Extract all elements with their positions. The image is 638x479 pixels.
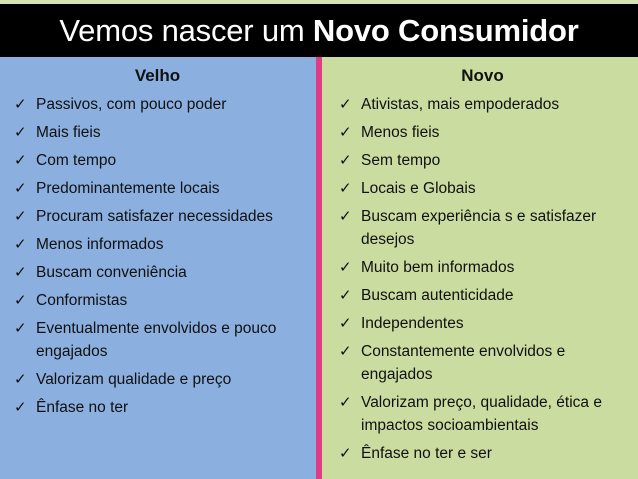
- list-item: ✓Muito bem informados: [335, 256, 630, 279]
- comparison-columns: Velho ✓Passivos, com pouco poder ✓Mais f…: [0, 57, 638, 479]
- slide: Vemos nascer um Novo Consumidor Velho ✓P…: [0, 0, 638, 479]
- check-icon: ✓: [14, 233, 27, 256]
- list-item: ✓Eventualmente envolvidos e pouco engaja…: [10, 317, 305, 363]
- check-icon: ✓: [339, 177, 352, 200]
- list-item-label: Ênfase no ter: [36, 399, 128, 416]
- column-old-heading: Velho: [10, 57, 305, 93]
- list-item: ✓Valorizam preço, qualidade, ética e imp…: [335, 391, 630, 437]
- list-item-label: Passivos, com pouco poder: [36, 96, 226, 113]
- column-divider: [313, 57, 325, 479]
- check-icon: ✓: [14, 93, 27, 116]
- list-item-label: Sem tempo: [361, 152, 440, 169]
- list-item: ✓Procuram satisfazer necessidades: [10, 205, 305, 228]
- list-item: ✓Passivos, com pouco poder: [10, 93, 305, 116]
- column-old: Velho ✓Passivos, com pouco poder ✓Mais f…: [0, 57, 313, 479]
- column-old-list: ✓Passivos, com pouco poder ✓Mais fieis ✓…: [10, 93, 305, 419]
- list-item: ✓Ativistas, mais empoderados: [335, 93, 630, 116]
- check-icon: ✓: [14, 121, 27, 144]
- column-new-heading: Novo: [335, 57, 630, 93]
- check-icon: ✓: [339, 312, 352, 335]
- list-item: ✓Locais e Globais: [335, 177, 630, 200]
- check-icon: ✓: [339, 442, 352, 465]
- list-item-label: Menos informados: [36, 236, 164, 253]
- list-item-label: Conformistas: [36, 292, 127, 309]
- list-item: ✓Constantemente envolvidos e engajados: [335, 340, 630, 386]
- list-item-label: Procuram satisfazer necessidades: [36, 208, 273, 225]
- slide-title: Vemos nascer um Novo Consumidor: [59, 14, 578, 48]
- list-item-label: Eventualmente envolvidos e pouco engajad…: [36, 320, 276, 360]
- list-item: ✓Com tempo: [10, 149, 305, 172]
- list-item: ✓Buscam autenticidade: [335, 284, 630, 307]
- list-item: ✓Buscam experiência s e satisfazer desej…: [335, 205, 630, 251]
- column-new: Novo ✓Ativistas, mais empoderados ✓Menos…: [325, 57, 638, 479]
- list-item-label: Mais fieis: [36, 124, 101, 141]
- check-icon: ✓: [14, 261, 27, 284]
- list-item-label: Muito bem informados: [361, 259, 514, 276]
- list-item-label: Locais e Globais: [361, 180, 476, 197]
- check-icon: ✓: [14, 289, 27, 312]
- column-new-list: ✓Ativistas, mais empoderados ✓Menos fiei…: [335, 93, 630, 465]
- check-icon: ✓: [339, 121, 352, 144]
- list-item-label: Predominantemente locais: [36, 180, 220, 197]
- check-icon: ✓: [14, 368, 27, 391]
- check-icon: ✓: [339, 284, 352, 307]
- check-icon: ✓: [339, 391, 352, 414]
- list-item-label: Buscam autenticidade: [361, 287, 514, 304]
- list-item: ✓Buscam conveniência: [10, 261, 305, 284]
- list-item: ✓Valorizam qualidade e preço: [10, 368, 305, 391]
- list-item-label: Constantemente envolvidos e engajados: [361, 343, 565, 383]
- list-item: ✓Ênfase no ter e ser: [335, 442, 630, 465]
- list-item: ✓Menos fieis: [335, 121, 630, 144]
- list-item-label: Independentes: [361, 315, 464, 332]
- check-icon: ✓: [339, 149, 352, 172]
- list-item-label: Ênfase no ter e ser: [361, 445, 492, 462]
- list-item-label: Valorizam qualidade e preço: [36, 371, 231, 388]
- slide-title-bar: Vemos nascer um Novo Consumidor: [0, 4, 638, 57]
- check-icon: ✓: [14, 396, 27, 419]
- check-icon: ✓: [339, 340, 352, 363]
- check-icon: ✓: [339, 93, 352, 116]
- check-icon: ✓: [14, 149, 27, 172]
- list-item-label: Buscam conveniência: [36, 264, 187, 281]
- list-item-label: Menos fieis: [361, 124, 439, 141]
- check-icon: ✓: [14, 205, 27, 228]
- check-icon: ✓: [14, 317, 27, 340]
- list-item: ✓Sem tempo: [335, 149, 630, 172]
- list-item-label: Ativistas, mais empoderados: [361, 96, 559, 113]
- check-icon: ✓: [14, 177, 27, 200]
- list-item-label: Buscam experiência s e satisfazer desejo…: [361, 208, 596, 248]
- list-item: ✓Independentes: [335, 312, 630, 335]
- list-item: ✓Menos informados: [10, 233, 305, 256]
- check-icon: ✓: [339, 256, 352, 279]
- list-item: ✓Predominantemente locais: [10, 177, 305, 200]
- list-item: ✓Conformistas: [10, 289, 305, 312]
- list-item: ✓Mais fieis: [10, 121, 305, 144]
- list-item-label: Valorizam preço, qualidade, ética e impa…: [361, 394, 602, 434]
- list-item-label: Com tempo: [36, 152, 116, 169]
- check-icon: ✓: [339, 205, 352, 228]
- slide-title-emphasis: Novo Consumidor: [313, 13, 579, 48]
- slide-title-prefix: Vemos nascer um: [59, 13, 313, 48]
- list-item: ✓Ênfase no ter: [10, 396, 305, 419]
